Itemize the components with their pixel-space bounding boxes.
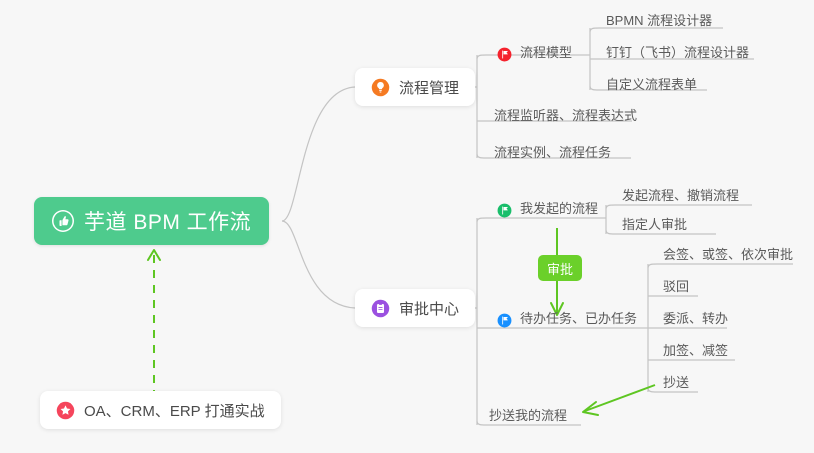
- root-node[interactable]: 芋道 BPM 工作流: [34, 197, 269, 245]
- approval-tag[interactable]: 审批: [538, 255, 582, 281]
- node-label-delegate-transfer: 委派、转办: [663, 310, 728, 328]
- node-label-countersign-or-sequential: 会签、或签、依次审批: [663, 246, 793, 264]
- footer-note-label: OA、CRM、ERP 打通实战: [84, 400, 265, 421]
- node-dingtalk-feishu-designer[interactable]: 钉钉（飞书）流程设计器: [603, 44, 752, 66]
- node-label-add-remove-sign: 加签、减签: [663, 342, 728, 360]
- branch-node-approval-center[interactable]: 审批中心: [355, 289, 475, 327]
- node-countersign-or-sequential[interactable]: 会签、或签、依次审批: [660, 246, 796, 268]
- node-label-cc-to-me-process: 抄送我的流程: [489, 407, 567, 425]
- node-label-carbon-copy: 抄送: [663, 374, 689, 392]
- node-label-todo-done-task: 待办任务、已办任务: [520, 310, 637, 328]
- link-root-to-approval-center: [282, 221, 355, 308]
- node-cc-to-me-process[interactable]: 抄送我的流程: [486, 407, 570, 429]
- branch-node-process-management[interactable]: 流程管理: [355, 68, 475, 106]
- thumbs-up-icon: [52, 210, 74, 232]
- node-process-instance-task[interactable]: 流程实例、流程任务: [491, 144, 614, 166]
- node-start-cancel-process[interactable]: 发起流程、撤销流程: [619, 187, 742, 209]
- node-process-listener-expression[interactable]: 流程监听器、流程表达式: [491, 107, 640, 129]
- footer-arrow-head: [148, 250, 160, 260]
- node-label-assignee-approval: 指定人审批: [622, 216, 687, 234]
- node-process-model[interactable]: 流程模型: [494, 44, 575, 66]
- node-label-reject: 驳回: [663, 278, 689, 296]
- node-label-my-started-process: 我发起的流程: [520, 200, 598, 218]
- node-label-process-instance-task: 流程实例、流程任务: [494, 144, 611, 162]
- flag-icon: [497, 47, 512, 62]
- node-custom-process-form[interactable]: 自定义流程表单: [603, 76, 700, 98]
- footer-arrow: [148, 250, 160, 398]
- node-delegate-transfer[interactable]: 委派、转办: [660, 310, 731, 332]
- cc-link-line: [585, 385, 655, 411]
- node-my-started-process[interactable]: 我发起的流程: [494, 200, 601, 222]
- lightbulb-icon: [371, 78, 390, 97]
- branch-label-process-management: 流程管理: [399, 77, 459, 98]
- node-bpmn-designer[interactable]: BPMN 流程设计器: [603, 12, 715, 34]
- cc-link-arrowhead: [583, 402, 598, 415]
- node-todo-done-task[interactable]: 待办任务、已办任务: [494, 310, 640, 332]
- node-label-dingtalk-feishu-designer: 钉钉（飞书）流程设计器: [606, 44, 749, 62]
- flag-icon: [497, 313, 512, 328]
- star-icon: [56, 401, 75, 420]
- flag-icon: [497, 203, 512, 218]
- cc-link-arrow: [583, 385, 655, 415]
- footer-note-node[interactable]: OA、CRM、ERP 打通实战: [40, 391, 281, 429]
- node-label-start-cancel-process: 发起流程、撤销流程: [622, 187, 739, 205]
- node-add-remove-sign[interactable]: 加签、减签: [660, 342, 731, 364]
- node-label-process-model: 流程模型: [520, 44, 572, 62]
- node-assignee-approval[interactable]: 指定人审批: [619, 216, 690, 238]
- node-label-custom-process-form: 自定义流程表单: [606, 76, 697, 94]
- node-label-process-listener-expression: 流程监听器、流程表达式: [494, 107, 637, 125]
- link-root-to-process-management: [282, 87, 355, 221]
- node-label-bpmn-designer: BPMN 流程设计器: [606, 12, 712, 30]
- mindmap-canvas: 芋道 BPM 工作流 OA、CRM、ERP 打通实战 流程管理: [0, 0, 814, 453]
- branch-label-approval-center: 审批中心: [399, 298, 459, 319]
- clipboard-icon: [371, 299, 390, 318]
- node-carbon-copy[interactable]: 抄送: [660, 374, 692, 396]
- node-reject[interactable]: 驳回: [660, 278, 692, 300]
- approval-tag-label: 审批: [547, 259, 573, 278]
- root-node-label: 芋道 BPM 工作流: [84, 206, 251, 236]
